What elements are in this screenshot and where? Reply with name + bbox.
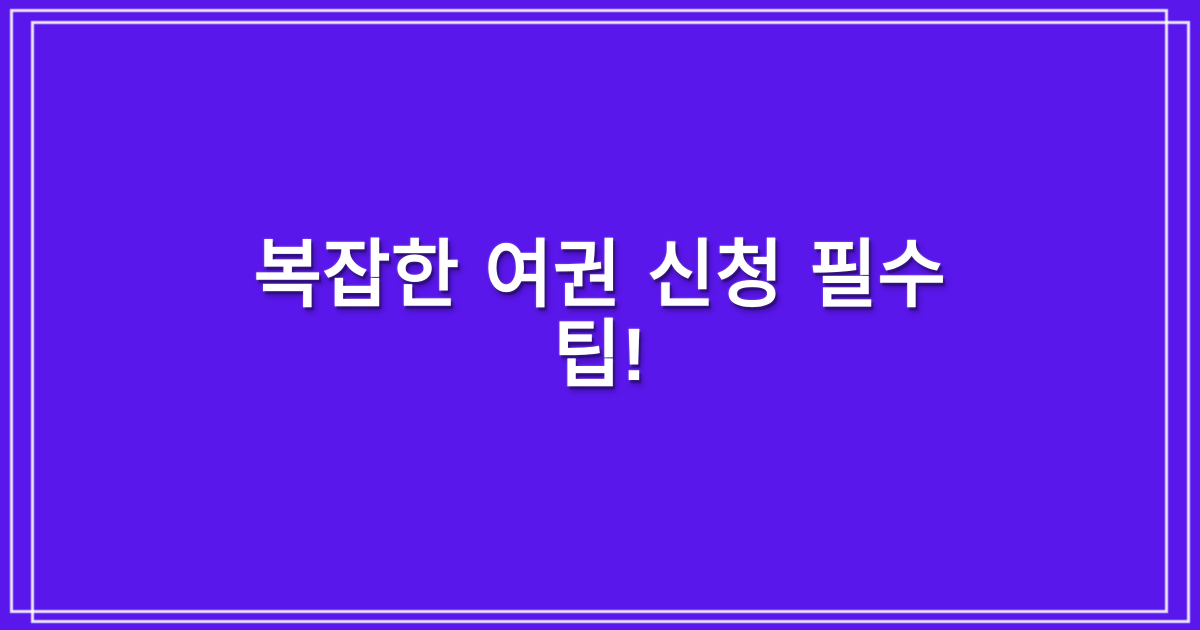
banner-card: 복잡한 여권 신청 필수 팁! [0,0,1200,630]
headline-container: 복잡한 여권 신청 필수 팁! [0,0,1200,630]
banner-headline: 복잡한 여권 신청 필수 팁! [220,235,980,395]
